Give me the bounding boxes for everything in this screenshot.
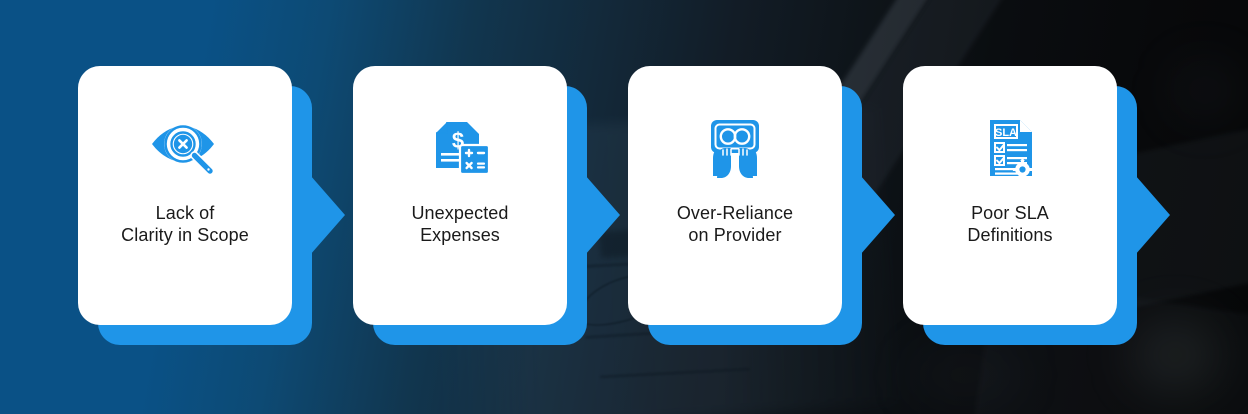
step-card-2[interactable]: $ Unexpected Expenses bbox=[353, 66, 567, 325]
step-card-label: Unexpected Expenses bbox=[362, 202, 558, 246]
step-card-3[interactable]: Over-Reliance on Provider bbox=[628, 66, 842, 325]
hands-holding-infinity-icon bbox=[697, 114, 773, 186]
step-card-label: Poor SLA Definitions bbox=[912, 202, 1108, 246]
step-card-label: Lack of Clarity in Scope bbox=[87, 202, 283, 246]
step-card-4[interactable]: SLA bbox=[903, 66, 1117, 325]
svg-text:SLA: SLA bbox=[995, 127, 1017, 139]
step-card-surface: Over-Reliance on Provider bbox=[628, 66, 842, 325]
step-card-label: Over-Reliance on Provider bbox=[637, 202, 833, 246]
infographic-canvas: Lack of Clarity in Scope $ bbox=[0, 0, 1248, 414]
step-card-surface: Lack of Clarity in Scope bbox=[78, 66, 292, 325]
invoice-calculator-icon: $ bbox=[422, 114, 498, 186]
step-arrow-icon bbox=[1135, 175, 1170, 255]
step-card-row: Lack of Clarity in Scope $ bbox=[0, 0, 1248, 414]
step-arrow-icon bbox=[585, 175, 620, 255]
step-card-1[interactable]: Lack of Clarity in Scope bbox=[78, 66, 292, 325]
eye-magnifier-x-icon bbox=[147, 114, 223, 186]
step-card-surface: SLA bbox=[903, 66, 1117, 325]
step-arrow-icon bbox=[310, 175, 345, 255]
step-card-surface: $ Unexpected Expenses bbox=[353, 66, 567, 325]
step-arrow-icon bbox=[860, 175, 895, 255]
sla-document-gear-icon: SLA bbox=[972, 114, 1048, 186]
